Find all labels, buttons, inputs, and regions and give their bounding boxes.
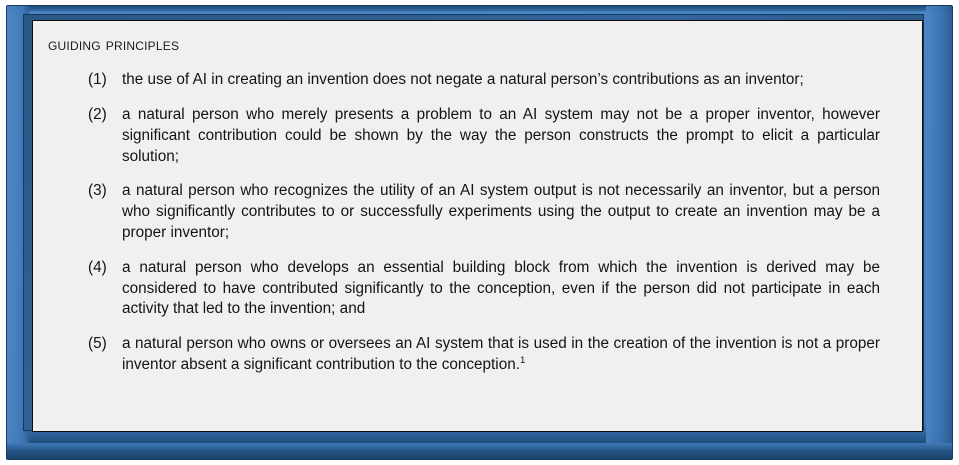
- list-item-text: a natural person who recognizes the util…: [122, 181, 880, 243]
- list-item-text: a natural person who owns or oversees an…: [122, 334, 880, 376]
- list-item: (3) a natural person who recognizes the …: [46, 181, 896, 243]
- frame-top-bevel: [7, 6, 952, 12]
- slide-canvas: Guiding Principles (1) the use of AI in …: [0, 0, 959, 465]
- frame-right-bevel: [926, 6, 952, 459]
- footnote-reference[interactable]: 1: [520, 355, 525, 366]
- content-card: Guiding Principles (1) the use of AI in …: [32, 20, 923, 432]
- content-card-inner: Guiding Principles (1) the use of AI in …: [33, 21, 922, 431]
- list-item-text: a natural person who develops an essenti…: [122, 258, 880, 320]
- list-item: (4) a natural person who develops an ess…: [46, 258, 896, 320]
- list-item-marker: (5): [88, 334, 122, 355]
- page-title: Guiding Principles: [46, 35, 896, 54]
- list-item-text: the use of AI in creating an invention d…: [122, 70, 880, 91]
- list-item-marker: (1): [88, 70, 122, 91]
- list-item-marker: (2): [88, 105, 122, 126]
- principles-list: (1) the use of AI in creating an inventi…: [46, 70, 896, 376]
- frame-bottom-bevel: [7, 443, 952, 459]
- list-item: (2) a natural person who merely presents…: [46, 105, 896, 167]
- list-item: (1) the use of AI in creating an inventi…: [46, 70, 896, 91]
- list-item-text: a natural person who merely presents a p…: [122, 105, 880, 167]
- list-item-marker: (3): [88, 181, 122, 202]
- list-item-text-body: a natural person who owns or oversees an…: [122, 335, 880, 373]
- list-item-marker: (4): [88, 258, 122, 279]
- list-item: (5) a natural person who owns or oversee…: [46, 334, 896, 376]
